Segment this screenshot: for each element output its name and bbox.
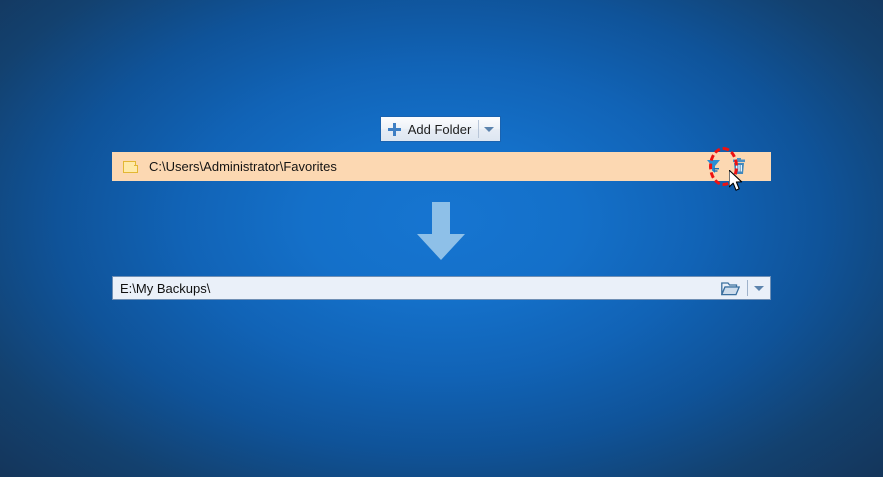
source-folder-row[interactable]: C:\Users\Administrator\Favorites <box>112 152 771 181</box>
plus-icon <box>388 123 401 136</box>
add-folder-label: Add Folder <box>408 123 472 136</box>
backup-configuration-screen: Add Folder C:\Users\Administrator\Favori… <box>0 0 883 477</box>
add-folder-button[interactable]: Add Folder <box>381 117 478 141</box>
filter-funnel-glyph <box>705 158 722 175</box>
arrow-down-icon <box>414 202 468 262</box>
source-folder-path: C:\Users\Administrator\Favorites <box>149 159 701 174</box>
folder-icon <box>123 160 138 174</box>
browse-folder-button[interactable] <box>713 277 747 299</box>
destination-path-input[interactable]: E:\My Backups\ <box>113 277 713 299</box>
filter-funnel-icon[interactable] <box>701 155 725 179</box>
trash-bin-icon[interactable] <box>727 155 751 179</box>
chevron-down-icon <box>754 286 764 291</box>
destination-path-bar[interactable]: E:\My Backups\ <box>112 276 771 300</box>
chevron-down-icon <box>484 127 494 132</box>
add-folder-dropdown-button[interactable] <box>478 117 500 141</box>
destination-dropdown-button[interactable] <box>747 277 770 299</box>
trash-bin-glyph <box>731 158 747 175</box>
add-folder-split-button[interactable]: Add Folder <box>380 116 501 142</box>
folder-open-icon <box>721 281 740 296</box>
arrow-down-glyph <box>414 202 468 262</box>
